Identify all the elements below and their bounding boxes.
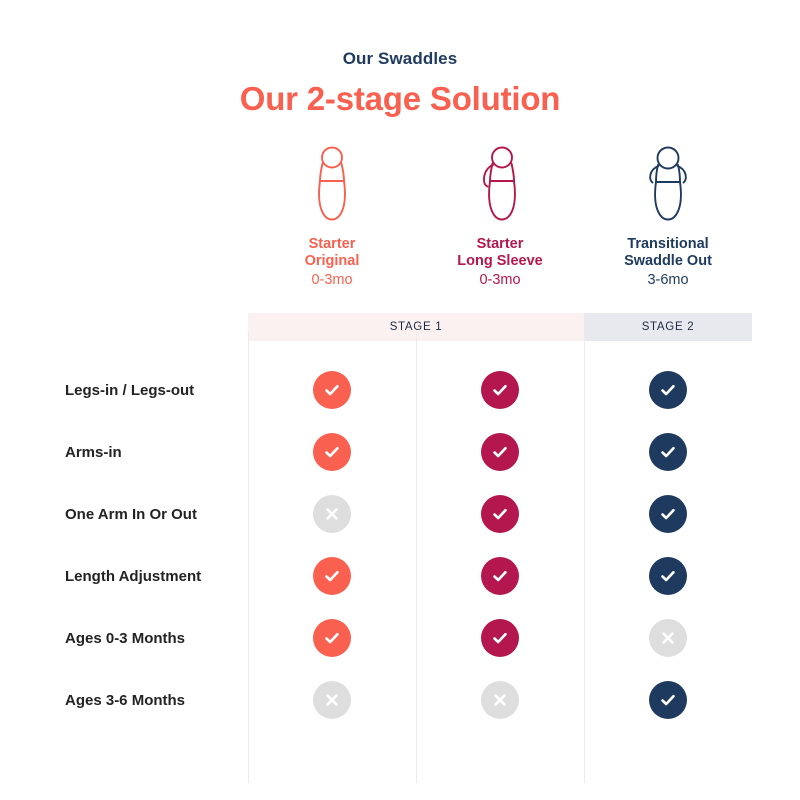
page-title: Our 2-stage Solution: [0, 80, 800, 118]
table-cell: [416, 495, 584, 533]
cross-icon: [481, 681, 519, 719]
product-header-row: Starter Original 0-3mo Starter Long Slee…: [248, 142, 752, 302]
swaddle-arms-out-icon: [641, 142, 695, 228]
check-icon: [649, 557, 687, 595]
product-name: Starter Original: [305, 236, 360, 270]
check-icon: [649, 681, 687, 719]
check-icon: [481, 619, 519, 657]
row-label-arms-in: Arms-in: [0, 421, 248, 483]
table-row: [248, 483, 752, 545]
cross-icon: [649, 619, 687, 657]
check-icon: [481, 371, 519, 409]
table-cell: [416, 433, 584, 471]
table-cell: [248, 619, 416, 657]
page-eyebrow: Our Swaddles: [0, 49, 800, 69]
product-column-starter-long-sleeve: Starter Long Sleeve 0-3mo: [416, 142, 584, 302]
comparison-grid-body: [248, 359, 752, 783]
table-row: [248, 607, 752, 669]
table-row: [248, 669, 752, 731]
table-cell: [248, 681, 416, 719]
product-column-transitional-swaddle-out: Transitional Swaddle Out 3-6mo: [584, 142, 752, 302]
product-name-line1: Starter: [305, 236, 360, 253]
cross-icon: [313, 681, 351, 719]
check-icon: [313, 433, 351, 471]
table-cell: [416, 557, 584, 595]
product-age: 0-3mo: [479, 272, 520, 289]
row-label-ages-3-6-months: Ages 3-6 Months: [0, 669, 248, 731]
table-cell: [584, 495, 752, 533]
check-icon: [649, 371, 687, 409]
table-cell: [416, 681, 584, 719]
table-cell: [416, 371, 584, 409]
table-cell: [584, 619, 752, 657]
table-cell: [248, 557, 416, 595]
check-icon: [481, 557, 519, 595]
swaddle-original-icon: [309, 142, 355, 228]
table-cell: [248, 371, 416, 409]
check-icon: [313, 619, 351, 657]
product-age: 0-3mo: [311, 272, 352, 289]
product-name-line2: Original: [305, 253, 360, 270]
column-divider-middle: [416, 331, 417, 783]
row-label-one-arm-in-or-out: One Arm In Or Out: [0, 483, 248, 545]
table-cell: [584, 681, 752, 719]
stage-header-row: STAGE 1 STAGE 2: [248, 313, 752, 341]
check-icon: [313, 557, 351, 595]
check-icon: [649, 433, 687, 471]
table-row: [248, 359, 752, 421]
table-cell: [584, 371, 752, 409]
stage-header-stage-2: STAGE 2: [584, 313, 752, 341]
comparison-table: STAGE 1 STAGE 2: [248, 313, 752, 765]
comparison-row-labels: Legs-in / Legs-out Arms-in One Arm In Or…: [0, 313, 248, 765]
product-name-line2: Long Sleeve: [457, 253, 542, 270]
table-cell: [584, 557, 752, 595]
table-cell: [248, 495, 416, 533]
row-label-ages-0-3-months: Ages 0-3 Months: [0, 607, 248, 669]
check-icon: [481, 433, 519, 471]
column-divider-left: [248, 331, 249, 783]
table-cell: [248, 433, 416, 471]
product-name-line2: Swaddle Out: [624, 253, 712, 270]
product-name-line1: Transitional: [624, 236, 712, 253]
row-label-legs-in-legs-out: Legs-in / Legs-out: [0, 359, 248, 421]
table-cell: [416, 619, 584, 657]
product-age: 3-6mo: [647, 272, 688, 289]
product-name: Starter Long Sleeve: [457, 236, 542, 270]
swaddle-comparison-page: Our Swaddles Our 2-stage Solution Starte…: [0, 0, 800, 800]
check-icon: [649, 495, 687, 533]
column-divider-right: [584, 331, 585, 783]
product-name: Transitional Swaddle Out: [624, 236, 712, 270]
table-cell: [584, 433, 752, 471]
product-column-starter-original: Starter Original 0-3mo: [248, 142, 416, 302]
check-icon: [481, 495, 519, 533]
table-row: [248, 545, 752, 607]
cross-icon: [313, 495, 351, 533]
product-name-line1: Starter: [457, 236, 542, 253]
check-icon: [313, 371, 351, 409]
swaddle-long-sleeve-icon: [475, 142, 525, 228]
row-label-length-adjustment: Length Adjustment: [0, 545, 248, 607]
table-row: [248, 421, 752, 483]
